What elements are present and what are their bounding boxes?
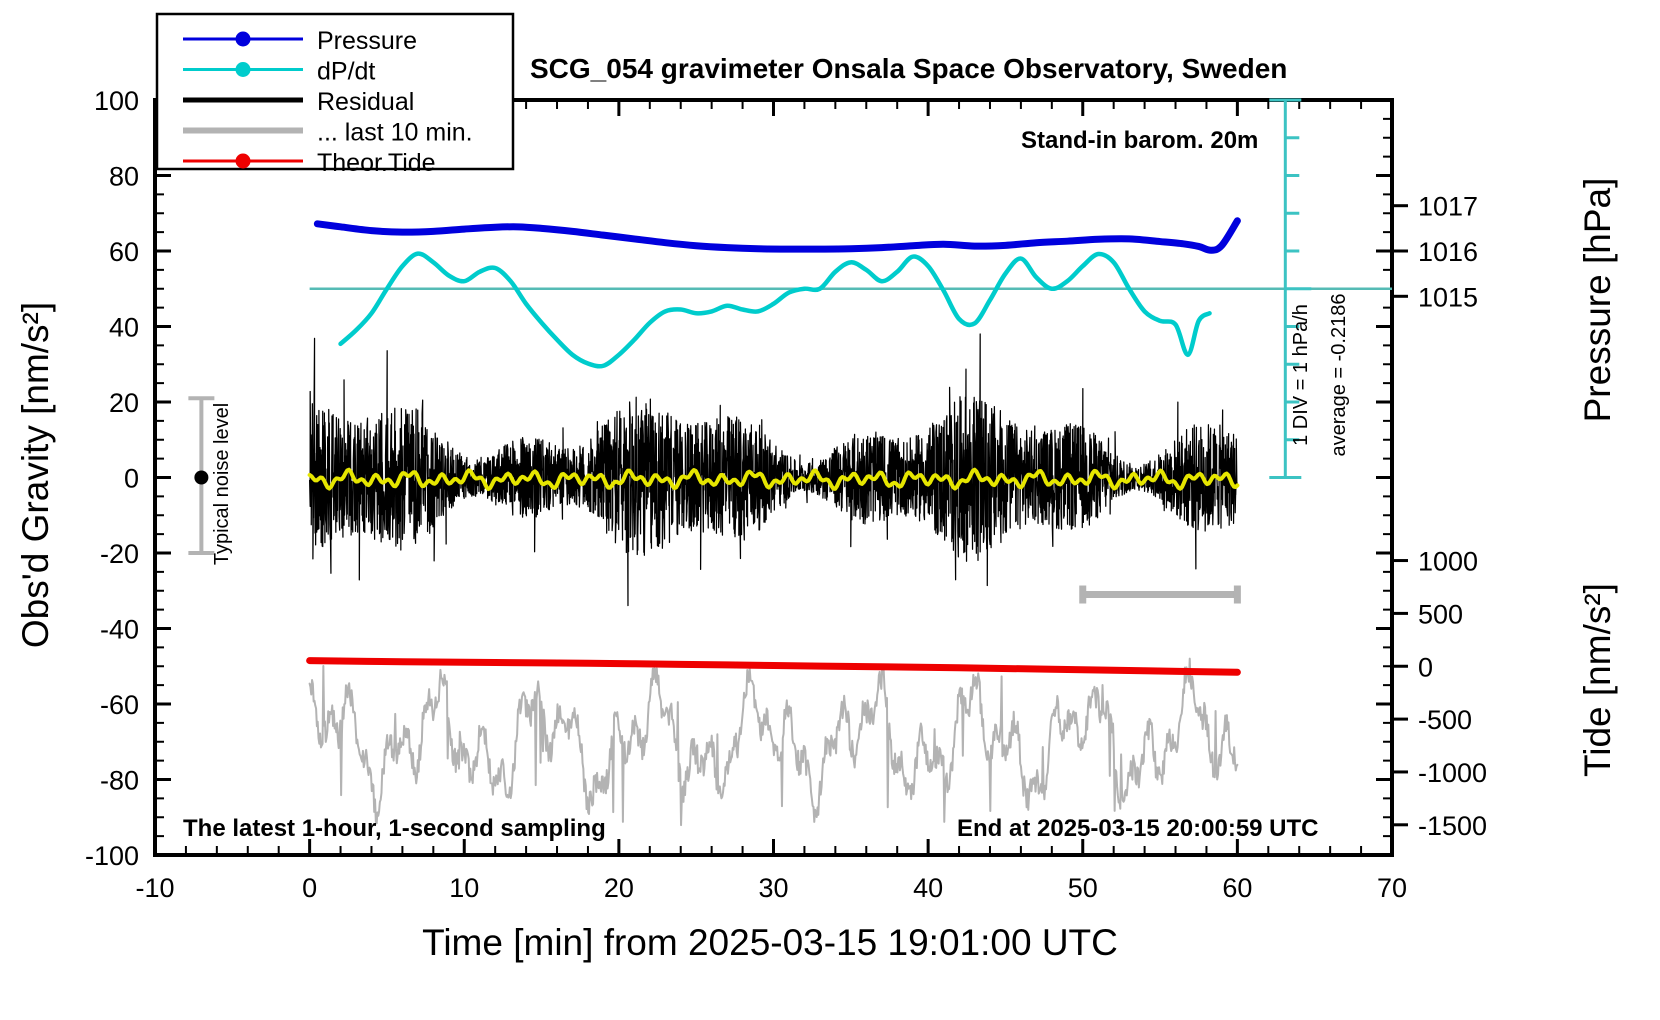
y-tick-label: -80 — [100, 766, 139, 796]
div-scale-annotation: 1 DIV = 1 hPa/h — [1290, 304, 1312, 446]
y-tick-label: 0 — [124, 464, 139, 494]
legend-label: Residual — [317, 88, 414, 116]
x-tick-label: 60 — [1222, 873, 1252, 903]
y-tick-label: -60 — [100, 690, 139, 720]
legend-swatch-marker — [236, 154, 251, 169]
pressure-axis-title: Pressure [hPa] — [1577, 178, 1618, 423]
legend-label: ... last 10 min. — [317, 119, 473, 147]
tide-tick-label: 1000 — [1418, 547, 1478, 577]
chart-legend[interactable]: PressuredP/dtResidual... last 10 min.The… — [157, 14, 513, 177]
tide-tick-label: -500 — [1418, 705, 1472, 735]
x-tick-label: 0 — [302, 873, 317, 903]
tide-axis-title: Tide [nm/s²] — [1577, 583, 1618, 777]
x-tick-label: 40 — [913, 873, 943, 903]
chart-canvas: -10010203040506070 -100-80-60-40-2002040… — [0, 0, 1660, 1020]
tide-tick-label: 0 — [1418, 652, 1433, 682]
end-time-annotation: End at 2025-03-15 20:00:59 UTC — [957, 815, 1319, 842]
tide-tick-label: -1500 — [1418, 811, 1487, 841]
y-tick-label: 40 — [109, 313, 139, 343]
legend-label: Pressure — [317, 27, 417, 55]
x-tick-label: -10 — [135, 873, 174, 903]
chart-title: SCG_054 gravimeter Onsala Space Observat… — [530, 53, 1287, 84]
y-tick-label: 100 — [94, 86, 139, 116]
y-tick-label: 80 — [109, 162, 139, 192]
legend-label: dP/dt — [317, 58, 375, 86]
y-tick-label: -20 — [100, 539, 139, 569]
x-tick-label: 30 — [758, 873, 788, 903]
sampling-annotation: The latest 1-hour, 1-second sampling — [183, 815, 606, 842]
x-tick-label: 70 — [1377, 873, 1407, 903]
y-tick-label: 60 — [109, 237, 139, 267]
x-tick-label: 10 — [449, 873, 479, 903]
legend-label: Theor.Tide — [317, 149, 436, 177]
pressure-tick-label: 1017 — [1418, 192, 1478, 222]
noise-bar-center-dot — [194, 471, 208, 485]
tide-tick-label: -1000 — [1418, 758, 1487, 788]
noise-level-annotation: Typical noise level — [211, 403, 233, 565]
average-annotation: average = -0.2186 — [1328, 294, 1350, 457]
x-tick-label: 20 — [604, 873, 634, 903]
gravimeter-chart: -10010203040506070 -100-80-60-40-2002040… — [0, 0, 1660, 1020]
legend-swatch-marker — [236, 62, 251, 77]
y-tick-label: 20 — [109, 388, 139, 418]
x-tick-label: 50 — [1068, 873, 1098, 903]
standin-barom-annotation: Stand-in barom. 20m — [1021, 127, 1258, 154]
pressure-tick-label: 1016 — [1418, 237, 1478, 267]
pressure-tick-label: 1015 — [1418, 282, 1478, 312]
legend-swatch-marker — [236, 32, 251, 47]
tide-tick-label: 500 — [1418, 599, 1463, 629]
y-tick-label: -40 — [100, 615, 139, 645]
y-axis-title: Obs'd Gravity [nm/s²] — [15, 302, 56, 648]
x-axis-title: Time [min] from 2025-03-15 19:01:00 UTC — [422, 922, 1118, 963]
y-tick-label: -100 — [85, 841, 139, 871]
